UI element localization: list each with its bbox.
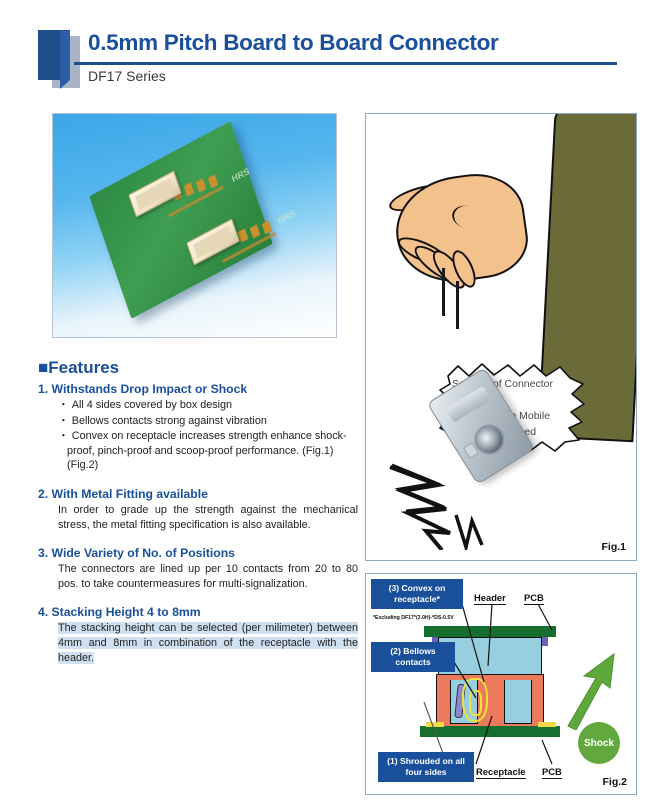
series-subtitle: DF17 Series [88,68,166,84]
page-header: 0.5mm Pitch Board to Board Connector DF1… [0,0,650,100]
label-pcb-bottom: PCB [542,766,562,779]
highlighted-text: The stacking height can be selected (per… [58,622,358,663]
impact-zigzag-icon [386,455,496,550]
title-divider [74,62,617,65]
pcb-board [89,121,272,319]
feature-bullet: ・ All 4 sides covered by box design [58,398,358,413]
diagram-receptacle-cavity [504,680,532,724]
diagram-solder-pad [426,722,444,727]
fig2-panel: Shock Header PCB Receptacle PCB (3) Conv… [365,573,637,795]
feature-title: 1. Withstands Drop Impact or Shock [38,382,358,396]
feature-bullet-list: ・ All 4 sides covered by box design ・ Be… [38,398,358,473]
shock-arrow-icon [562,652,618,730]
product-photo-image: HRS HRS [91,142,306,312]
feature-item: 2. With Metal Fitting available In order… [38,487,358,532]
page-title: 0.5mm Pitch Board to Board Connector [88,30,499,56]
excluding-note: *Excluding DF17*(3.0H)-*DS-0.5V [373,615,454,622]
feature-title: 2. With Metal Fitting available [38,487,358,501]
features-section: ■Features 1. Withstands Drop Impact or S… [38,358,358,668]
diagram-pcb-top [424,626,556,637]
callout-3: (3) Convex on receptacle* [371,579,463,609]
shock-badge: Shock [578,722,620,764]
label-receptacle: Receptacle [476,766,526,779]
features-heading: ■Features [38,358,358,378]
fig2-caption: Fig.2 [602,776,627,788]
motion-line [442,268,445,316]
feature-item: 1. Withstands Drop Impact or Shock ・ All… [38,382,358,473]
feature-title: 4. Stacking Height 4 to 8mm [38,605,358,619]
diagram-pcb-bottom [420,726,560,737]
feature-bullet: ・ Bellows contacts strong against vibrat… [58,414,358,429]
feature-item: 3. Wide Variety of No. of Positions The … [38,546,358,591]
feature-item: 4. Stacking Height 4 to 8mm The stacking… [38,605,358,665]
motion-line [456,281,459,329]
feature-title: 3. Wide Variety of No. of Positions [38,546,358,560]
feature-bullet: ・ Convex on receptacle increases strengt… [58,429,358,473]
phone-speaker-strip [446,386,492,423]
feature-body: The stacking height can be selected (per… [38,621,358,665]
callout-1: (1) Shrouded on all four sides [378,752,474,782]
label-pcb-top: PCB [524,592,544,605]
diagram-solder-pad [538,722,556,727]
callout-2: (2) Bellows contacts [371,642,455,672]
feature-body: In order to grade up the strength agains… [38,503,358,532]
product-photo-panel: HRS HRS [52,113,337,338]
fig1-caption: Fig.1 [601,541,626,553]
label-header: Header [474,592,506,605]
feature-body: The connectors are lined up per 10 conta… [38,562,358,591]
hrs-logo-mark: HRS [276,208,296,227]
diagram-bellows-contact [469,690,482,716]
logo-bar-icon [38,30,60,80]
